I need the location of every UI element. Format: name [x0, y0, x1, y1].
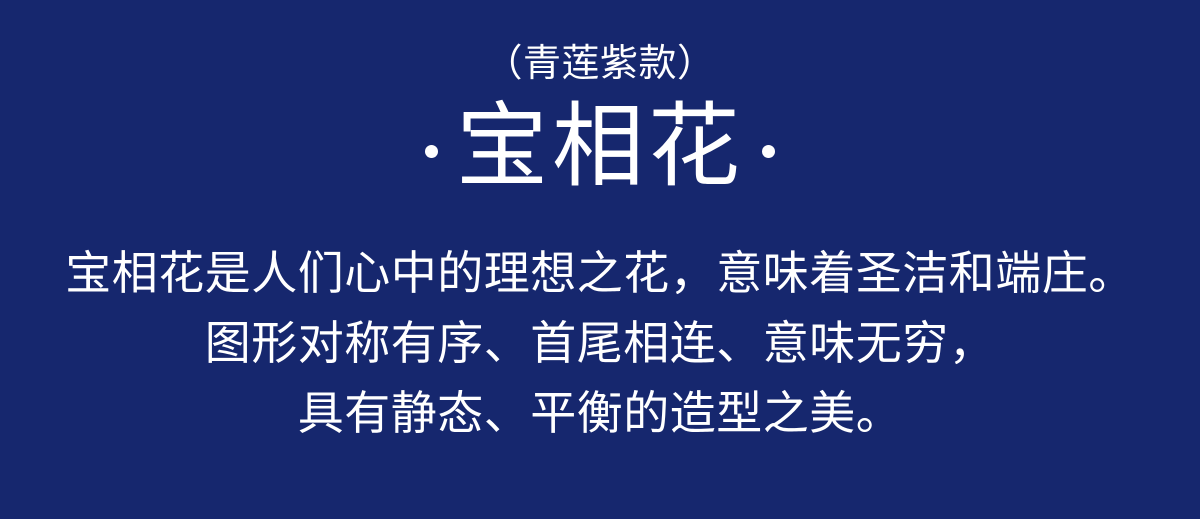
body-line: 图形对称有序、首尾相连、意味无穷， — [205, 309, 996, 379]
poster-subtitle: （青莲紫款） — [484, 45, 715, 83]
poster-canvas: （青莲紫款） 宝相花 宝相花是人们心中的理想之花，意味着圣洁和端庄。 图形对称有… — [0, 0, 1200, 519]
body-line: 具有静态、平衡的造型之美。 — [298, 379, 903, 449]
poster-body: 宝相花是人们心中的理想之花，意味着圣洁和端庄。 图形对称有序、首尾相连、意味无穷… — [0, 239, 1200, 449]
bullet-dot-icon-left — [425, 145, 438, 158]
body-line: 宝相花是人们心中的理想之花，意味着圣洁和端庄。 — [65, 239, 1135, 309]
heading-block: （青莲紫款） 宝相花 — [0, 0, 1200, 193]
poster-title-row: 宝相花 — [425, 101, 775, 193]
bullet-dot-icon-right — [762, 145, 775, 158]
page-title: 宝相花 — [456, 101, 744, 193]
